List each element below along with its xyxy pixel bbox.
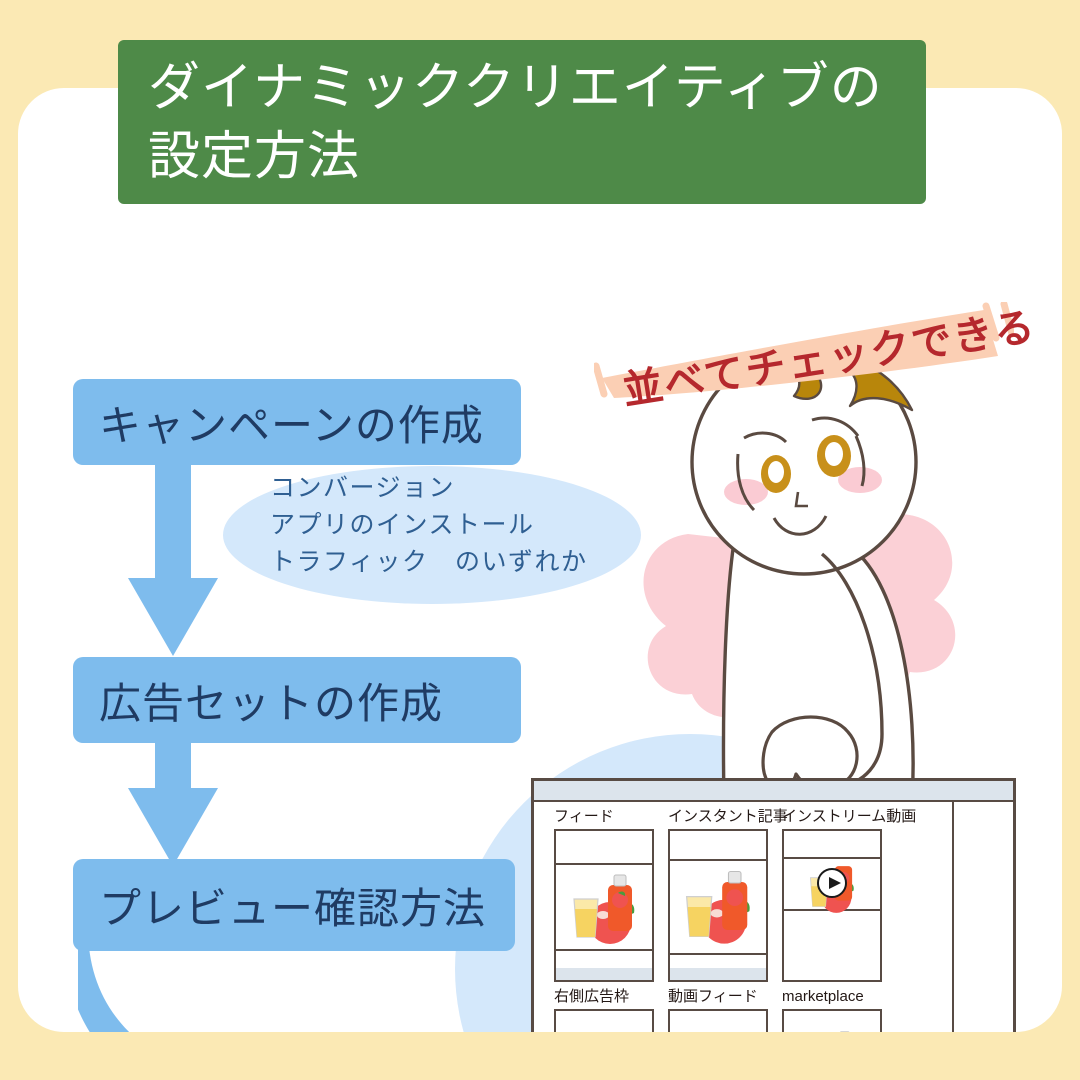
- page-title-line-1: ダイナミッククリエイティブの: [148, 54, 900, 123]
- placement-label: インスタント記事: [668, 808, 768, 826]
- page-title-banner: ダイナミッククリエイティブの 設定方法: [118, 40, 926, 204]
- panel-body: フィード: [534, 802, 1013, 1032]
- flow-step-adset-label: 広告セットの作成: [99, 670, 443, 731]
- objectives-list: コンバージョン アプリのインストール トラフィック のいずれか: [270, 470, 588, 581]
- objective-item: コンバージョン: [270, 470, 588, 507]
- placement-frame: [782, 829, 882, 982]
- panel-toolbar: [534, 781, 1013, 802]
- objective-item: アプリのインストール: [270, 507, 588, 544]
- placement-footer-bar: [556, 968, 652, 980]
- placement-footer-bar: [670, 968, 766, 980]
- placement-label: フィード: [554, 808, 654, 826]
- placement-label: インストリーム動画: [782, 808, 882, 826]
- placement-row-bottom: 右側広告枠: [554, 988, 952, 1032]
- objective-item: トラフィック のいずれか: [270, 544, 588, 581]
- product-ad-art: [672, 863, 764, 949]
- placement-preview-panel[interactable]: フィード: [531, 778, 1016, 1032]
- arrow-head: [128, 788, 218, 866]
- product-ad-art: [795, 1031, 869, 1032]
- placement-card-instream-video[interactable]: インストリーム動画: [782, 808, 882, 982]
- flow-step-campaign[interactable]: キャンペーンの作成: [73, 379, 521, 465]
- white-content-card: キャンペーンの作成 広告セットの作成 プレビュー確認方法 コンバージョン アプリ…: [18, 88, 1062, 1032]
- handwritten-note: 並べてチェックできる: [594, 302, 1014, 398]
- placement-card-right-rail[interactable]: 右側広告枠: [554, 988, 654, 1032]
- placement-card-marketplace[interactable]: marketplace: [782, 988, 882, 1032]
- down-arrow-icon-2: [123, 738, 223, 868]
- placement-frame: [554, 1009, 654, 1032]
- down-arrow-icon-1: [123, 458, 223, 658]
- placement-frame: [668, 1009, 768, 1032]
- placement-card-feed[interactable]: フィード: [554, 808, 654, 982]
- flow-step-preview-label: プレビュー確認方法: [99, 875, 486, 936]
- placement-label: 動画フィード: [668, 988, 768, 1006]
- flow-step-campaign-label: キャンペーンの作成: [99, 392, 484, 453]
- placement-row-top: フィード: [554, 808, 952, 982]
- placement-card-instant-article[interactable]: インスタント記事: [668, 808, 768, 982]
- placement-frame: [554, 829, 654, 982]
- arrow-head: [128, 578, 218, 656]
- product-ad-art: [560, 869, 648, 947]
- placement-label: 右側広告枠: [554, 988, 654, 1006]
- page-title-line-2: 設定方法: [148, 123, 900, 192]
- placement-frame: [668, 829, 768, 982]
- placement-label: marketplace: [782, 988, 882, 1006]
- placement-card-video-feed[interactable]: 動画フィード: [668, 988, 768, 1032]
- arrow-shaft: [155, 458, 191, 580]
- placement-grid: フィード: [534, 802, 952, 1032]
- panel-column-divider: [952, 802, 954, 1032]
- flow-step-preview[interactable]: プレビュー確認方法: [73, 859, 515, 951]
- arrow-shaft: [155, 738, 191, 790]
- placement-frame: [782, 1009, 882, 1032]
- play-button-icon[interactable]: [817, 868, 847, 898]
- flow-step-adset[interactable]: 広告セットの作成: [73, 657, 521, 743]
